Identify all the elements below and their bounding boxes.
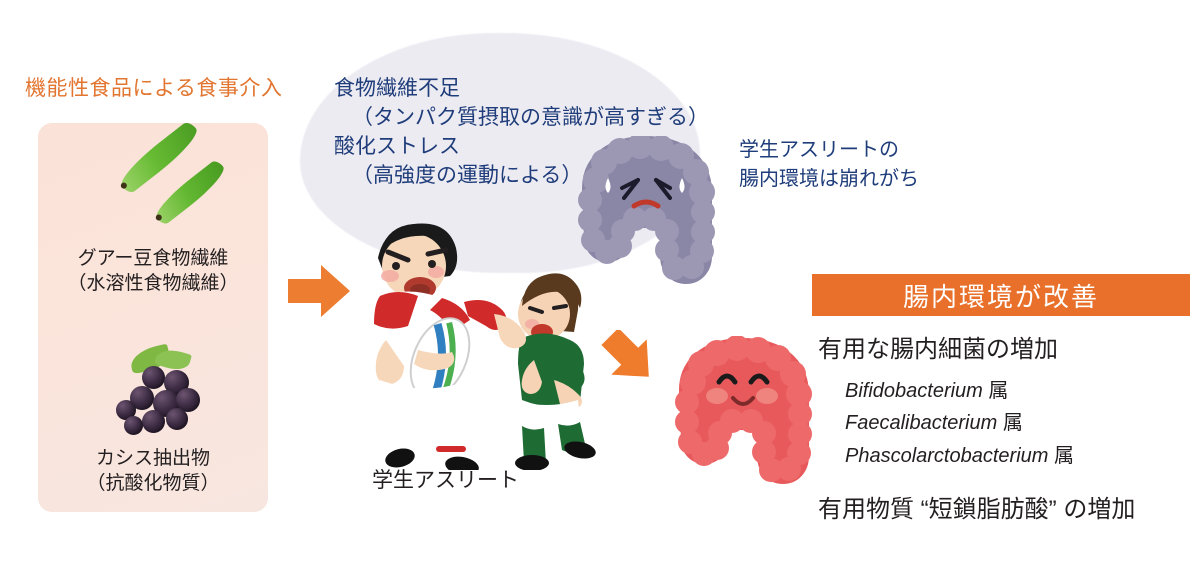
bacteria-genus: Faecalibacterium: [845, 412, 997, 434]
list-item: Faecalibacterium 属: [845, 407, 1074, 439]
gut-before-caption-line2: 腸内環境は崩れがち: [739, 165, 919, 194]
guar-fiber-label-line2: （水溶性食物繊維）: [38, 271, 268, 296]
problem-line-1: 食物繊維不足: [334, 77, 460, 100]
guar-fiber-label: グアー豆食物繊維 （水溶性食物繊維）: [38, 246, 268, 296]
bacteria-suffix: 属: [988, 380, 1008, 402]
cassis-extract-label: カシス抽出物 （抗酸化物質）: [38, 446, 268, 496]
infographic-canvas: 機能性食品による食事介入 グアー豆食物繊維 （水溶性食物繊維） カシス抽出物 （…: [0, 0, 1200, 578]
list-item: Phascolarctobacterium 属: [845, 440, 1074, 472]
blackcurrant-berries-icon: [108, 348, 218, 440]
guar-bean-pods-icon: [0, 0, 300, 240]
gut-before-caption-line1: 学生アスリートの: [739, 136, 919, 165]
bacteria-list: Bifidobacterium 属 Faecalibacterium 属 Pha…: [845, 375, 1074, 472]
cassis-extract-label-line1: カシス抽出物: [38, 446, 268, 471]
bacteria-genus: Phascolarctobacterium: [845, 445, 1048, 467]
bacteria-suffix: 属: [1054, 445, 1074, 467]
guar-fiber-label-line1: グアー豆食物繊維: [38, 246, 268, 271]
gut-before-caption: 学生アスリートの 腸内環境は崩れがち: [739, 136, 919, 194]
problem-line-3: 酸化ストレス: [334, 135, 460, 158]
defending-player: [512, 273, 597, 470]
happy-intestine-icon: [663, 336, 823, 486]
problem-line-2: （タンパク質摂取の意識が高すぎる）: [334, 104, 709, 133]
beneficial-bacteria-heading: 有用な腸内細菌の増加: [818, 329, 1058, 364]
rugby-players-illustration: [326, 210, 606, 470]
improvement-arrow: [601, 330, 657, 384]
bacteria-suffix: 属: [1003, 412, 1023, 434]
cassis-extract-label-line2: （抗酸化物質）: [38, 471, 268, 496]
bacteria-genus: Bifidobacterium: [845, 380, 983, 402]
main-player: [372, 224, 526, 471]
athlete-caption: 学生アスリート: [372, 464, 519, 494]
list-item: Bifidobacterium 属: [845, 375, 1074, 407]
scfa-footer: 有用物質 “短鎖脂肪酸” の増加: [818, 489, 1135, 524]
improvement-banner: 腸内環境が改善: [812, 274, 1190, 316]
